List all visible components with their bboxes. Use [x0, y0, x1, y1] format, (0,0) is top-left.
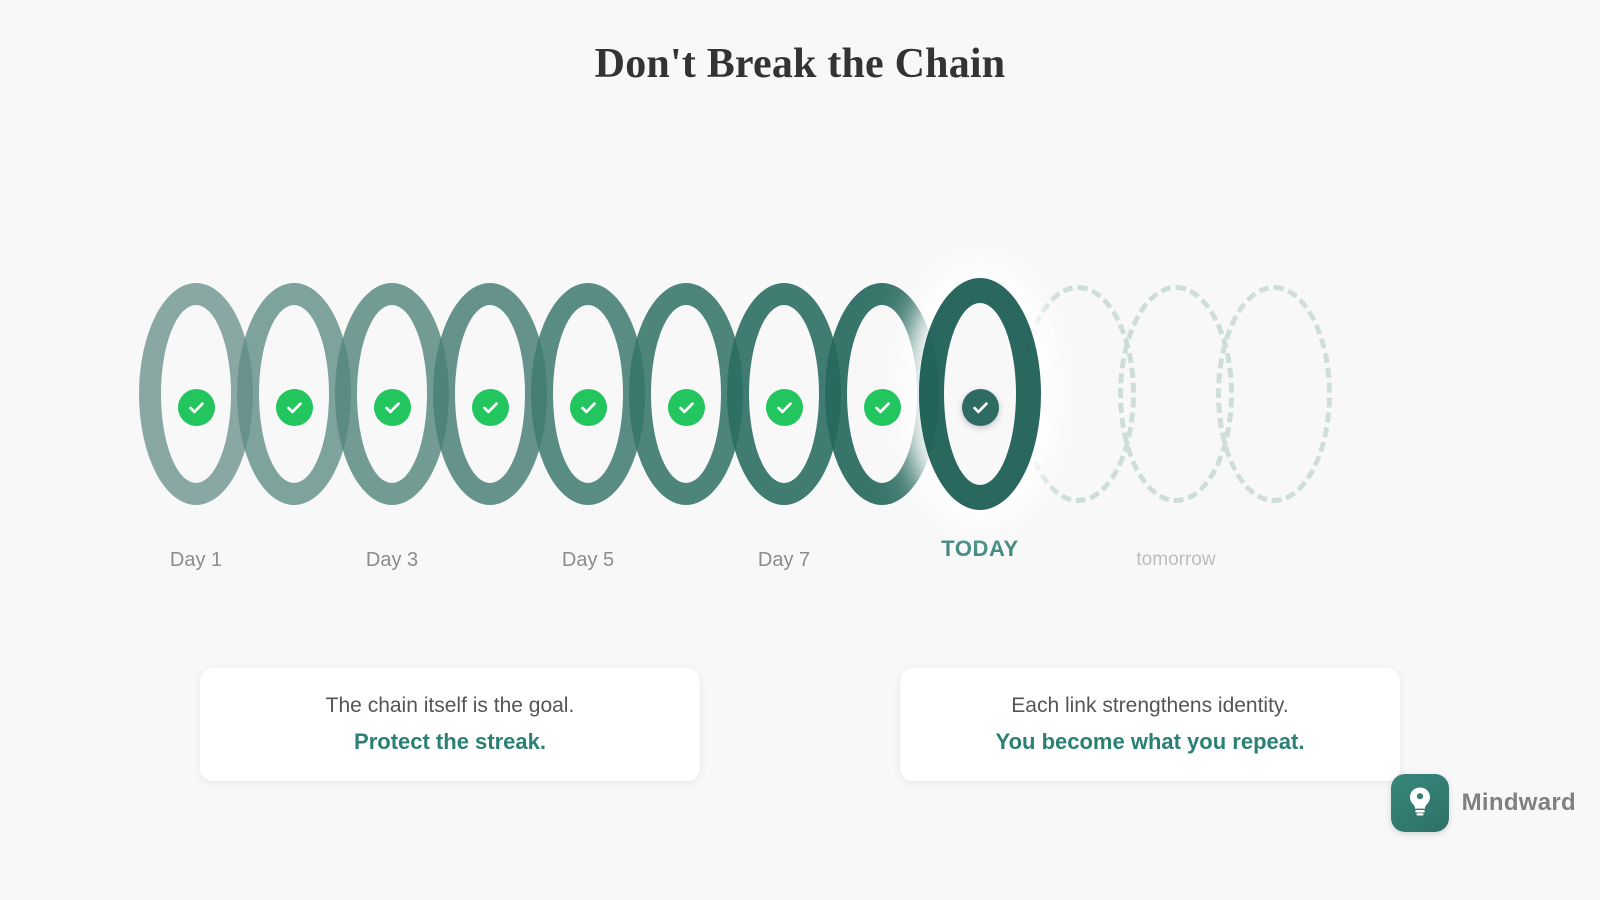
chain-label-day-3: Day 3 — [366, 549, 418, 572]
insight-card-right: Each link strengthens identity. You beco… — [900, 668, 1400, 781]
brand-logo: Mindward — [1391, 774, 1576, 832]
check-badge-day-9 — [962, 389, 999, 426]
chain-visualization — [0, 265, 1600, 525]
lightbulb-icon — [1407, 786, 1433, 821]
check-badge-day-1 — [178, 389, 215, 426]
card-left-primary-text: The chain itself is the goal. — [326, 694, 575, 718]
insight-card-left: The chain itself is the goal. Protect th… — [200, 668, 700, 781]
page-title: Don't Break the Chain — [0, 40, 1600, 88]
check-icon — [676, 397, 697, 418]
check-icon — [774, 397, 795, 418]
check-icon — [480, 397, 501, 418]
chain-link-12-future — [1216, 285, 1332, 503]
check-badge-day-8 — [864, 389, 901, 426]
brand-mark — [1391, 774, 1449, 832]
brand-name: Mindward — [1462, 789, 1576, 817]
chain-labels-layer: Day 1Day 3Day 5Day 7TODAYtomorrow — [0, 525, 1600, 595]
check-icon — [382, 397, 403, 418]
chain-label-day-7: Day 7 — [758, 549, 810, 572]
check-icon — [578, 397, 599, 418]
check-badge-day-5 — [570, 389, 607, 426]
check-icon — [186, 397, 207, 418]
card-right-primary-text: Each link strengthens identity. — [1011, 694, 1288, 718]
card-right-emphasis-text: You become what you repeat. — [996, 729, 1305, 755]
chain-label-tomorrow: tomorrow — [1136, 549, 1215, 571]
card-left-emphasis-text: Protect the streak. — [354, 729, 546, 755]
check-badge-day-2 — [276, 389, 313, 426]
chain-label-day-1: Day 1 — [170, 549, 222, 572]
check-badge-day-4 — [472, 389, 509, 426]
check-badge-day-6 — [668, 389, 705, 426]
check-badge-day-3 — [374, 389, 411, 426]
check-badge-day-7 — [766, 389, 803, 426]
check-icon — [872, 397, 893, 418]
check-icon — [970, 397, 991, 418]
check-icon — [284, 397, 305, 418]
chain-label-today: TODAY — [941, 536, 1019, 562]
chain-label-day-5: Day 5 — [562, 549, 614, 572]
insight-cards: The chain itself is the goal. Protect th… — [0, 668, 1600, 788]
